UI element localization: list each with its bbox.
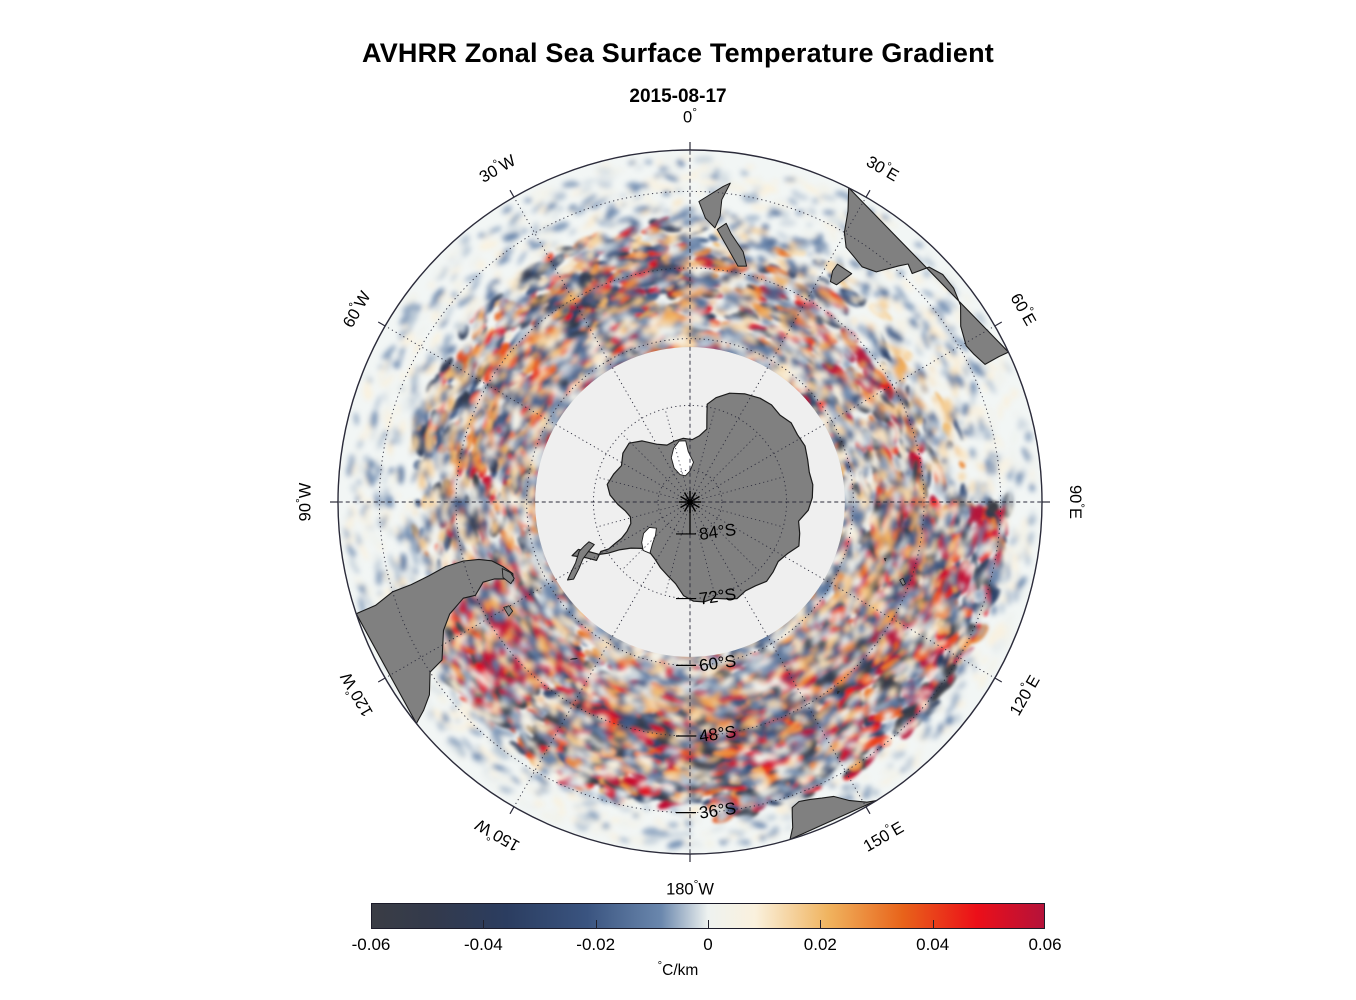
map-svg: 84°S72°S60°S48°S36°S — [330, 130, 1050, 870]
figure-title: AVHRR Zonal Sea Surface Temperature Grad… — [0, 38, 1356, 69]
polar-map[interactable]: 84°S72°S60°S48°S36°S 0°30°E60°E90°E120°E… — [330, 130, 1050, 870]
figure-canvas: AVHRR Zonal Sea Surface Temperature Grad… — [0, 0, 1356, 1000]
figure-subtitle: 2015-08-17 — [0, 86, 1356, 108]
